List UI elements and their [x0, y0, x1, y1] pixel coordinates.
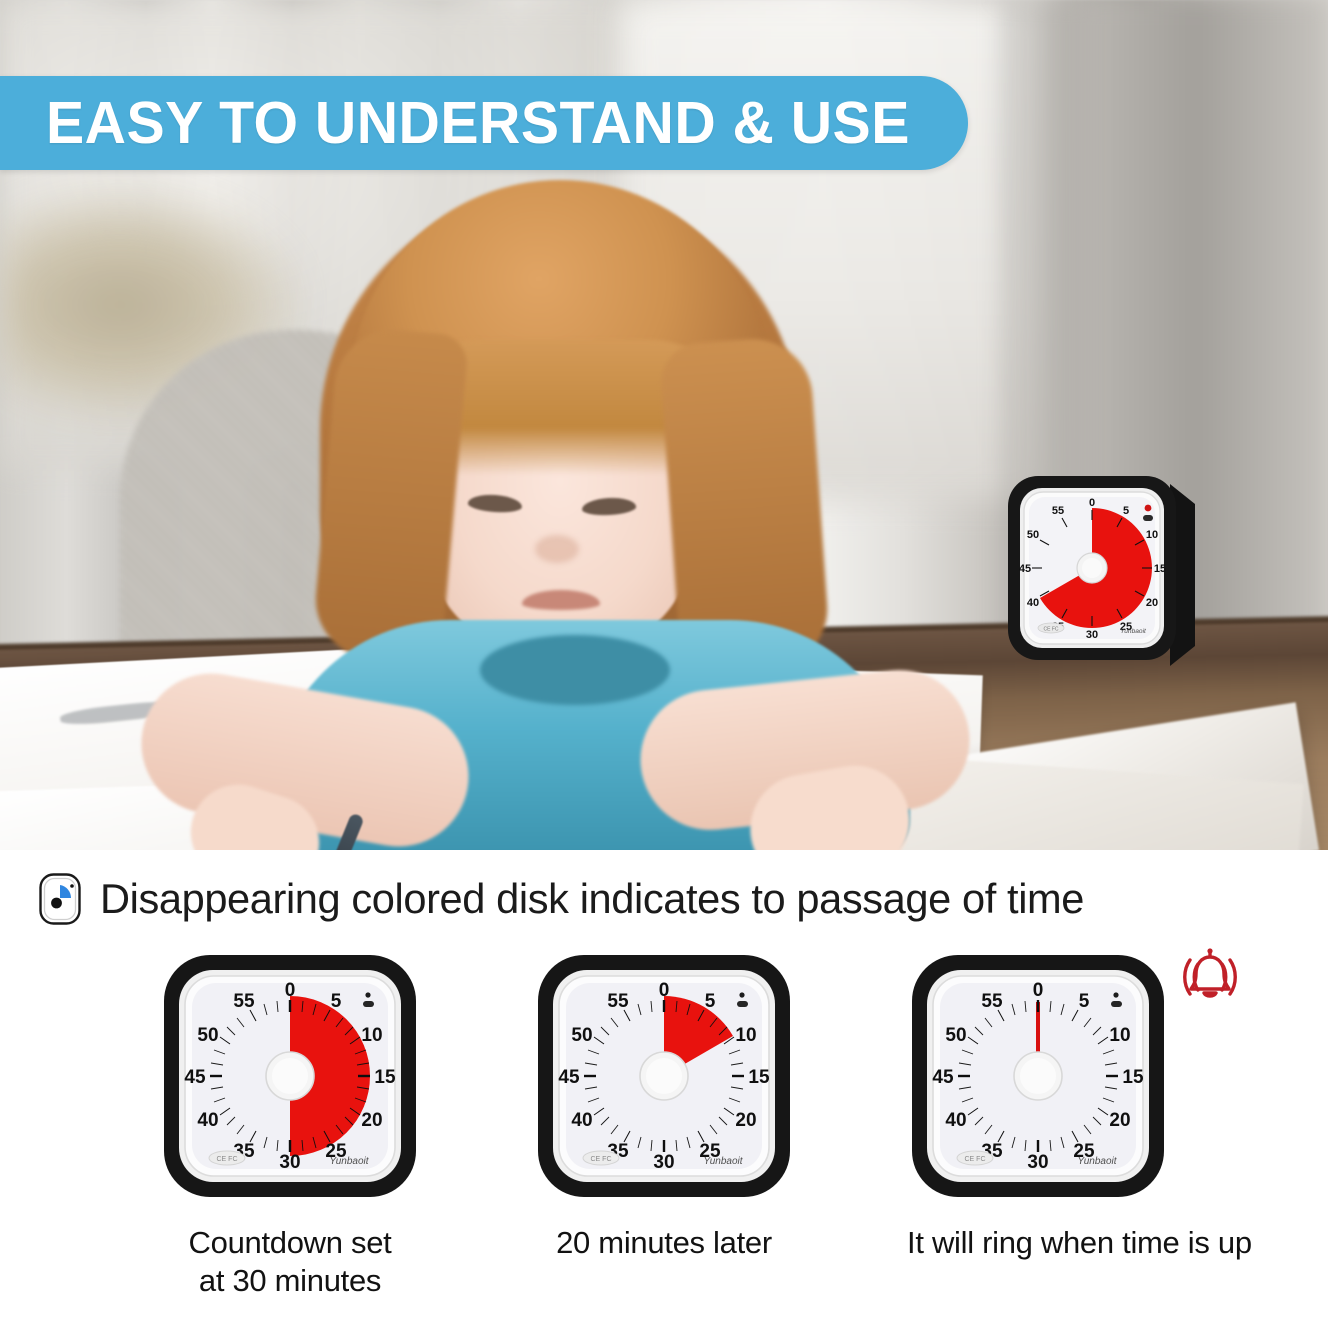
timer-30-minutes: 0 5 10 15 20 25 30 35 40 45 50 55 [159, 950, 421, 1202]
svg-text:0: 0 [1033, 980, 1044, 1001]
caption-line-1: It will ring when time is up [907, 1224, 1169, 1262]
svg-text:40: 40 [945, 1110, 966, 1131]
header-banner: EASY TO UNDERSTAND & USE [0, 76, 968, 170]
timer-zero-ringing: 0 5 10 15 20 25 30 35 40 45 50 55 [907, 950, 1169, 1202]
svg-text:45: 45 [558, 1067, 580, 1088]
caption-line-2: at 30 minutes [159, 1262, 421, 1300]
svg-text:5: 5 [705, 991, 716, 1012]
svg-text:50: 50 [197, 1025, 218, 1046]
banner-title: EASY TO UNDERSTAND & USE [46, 89, 910, 157]
caption-line-1: 20 minutes later [533, 1224, 795, 1262]
svg-text:50: 50 [1027, 529, 1039, 541]
timer-sequence-row: 0 5 10 15 20 25 30 35 40 45 50 55 [0, 950, 1328, 1300]
svg-text:40: 40 [197, 1110, 218, 1131]
svg-text:15: 15 [1154, 563, 1166, 575]
svg-text:15: 15 [374, 1067, 396, 1088]
svg-text:CE FC: CE FC [965, 1156, 986, 1163]
svg-text:30: 30 [279, 1152, 300, 1173]
svg-text:45: 45 [932, 1067, 954, 1088]
svg-text:30: 30 [653, 1152, 674, 1173]
hero-timer-device: 0 5 10 15 20 25 30 35 40 45 50 55 [1002, 470, 1202, 682]
brand-label: Yunbaoit [1077, 1156, 1117, 1167]
svg-text:5: 5 [331, 991, 342, 1012]
svg-text:40: 40 [1027, 597, 1039, 609]
tshirt-collar [480, 635, 670, 705]
timer-10-minutes: 0 5 10 15 20 25 30 35 40 45 50 55 [533, 950, 795, 1202]
svg-text:55: 55 [607, 991, 629, 1012]
feature-headline-row: Disappearing colored disk indicates to p… [38, 872, 1298, 926]
svg-text:10: 10 [1146, 529, 1158, 541]
product-feature-image: 0 5 10 15 20 25 30 35 40 45 50 55 [0, 0, 1328, 1328]
svg-text:40: 40 [571, 1110, 592, 1131]
timer-caption-2: 20 minutes later [533, 1224, 795, 1262]
svg-text:CE FC: CE FC [217, 1156, 238, 1163]
svg-text:45: 45 [184, 1067, 206, 1088]
timer-caption-1: Countdown set at 30 minutes [159, 1224, 421, 1300]
svg-text:55: 55 [233, 991, 255, 1012]
brand-label: Yunbaoit [703, 1156, 743, 1167]
svg-text:55: 55 [981, 991, 1003, 1012]
timer-caption-3: It will ring when time is up [907, 1224, 1169, 1262]
svg-text:10: 10 [361, 1025, 382, 1046]
svg-text:20: 20 [735, 1110, 756, 1131]
timer-cell-1: 0 5 10 15 20 25 30 35 40 45 50 55 [159, 950, 421, 1300]
feature-panel: Disappearing colored disk indicates to p… [0, 850, 1328, 1328]
child-figure [150, 150, 930, 710]
svg-text:55: 55 [1052, 505, 1064, 517]
svg-text:10: 10 [735, 1025, 756, 1046]
brand-label: Yunbaoit [329, 1156, 369, 1167]
svg-text:0: 0 [285, 980, 296, 1001]
svg-text:5: 5 [1123, 505, 1129, 517]
ringing-bell-icon [1173, 946, 1247, 1008]
svg-text:30: 30 [1086, 629, 1098, 641]
svg-text:0: 0 [1089, 497, 1095, 509]
svg-text:50: 50 [571, 1025, 592, 1046]
timer-cell-2: 0 5 10 15 20 25 30 35 40 45 50 55 [533, 950, 795, 1262]
svg-text:10: 10 [1109, 1025, 1130, 1046]
svg-text:30: 30 [1027, 1152, 1048, 1173]
svg-text:45: 45 [1019, 563, 1031, 575]
svg-text:20: 20 [1146, 597, 1158, 609]
svg-text:CE FC: CE FC [591, 1156, 612, 1163]
svg-text:15: 15 [1122, 1067, 1144, 1088]
svg-text:50: 50 [945, 1025, 966, 1046]
feature-headline: Disappearing colored disk indicates to p… [100, 875, 1084, 923]
nose [535, 535, 579, 563]
svg-text:20: 20 [361, 1110, 382, 1131]
svg-text:20: 20 [1109, 1110, 1130, 1131]
svg-text:5: 5 [1079, 991, 1090, 1012]
svg-text:CE FC: CE FC [1044, 627, 1059, 633]
svg-text:Yunbaoit: Yunbaoit [1120, 628, 1147, 635]
timer-disk-icon [38, 872, 82, 926]
caption-line-1: Countdown set [159, 1224, 421, 1262]
timer-cell-3: 0 5 10 15 20 25 30 35 40 45 50 55 [907, 950, 1169, 1262]
svg-text:0: 0 [659, 980, 670, 1001]
svg-text:15: 15 [748, 1067, 770, 1088]
